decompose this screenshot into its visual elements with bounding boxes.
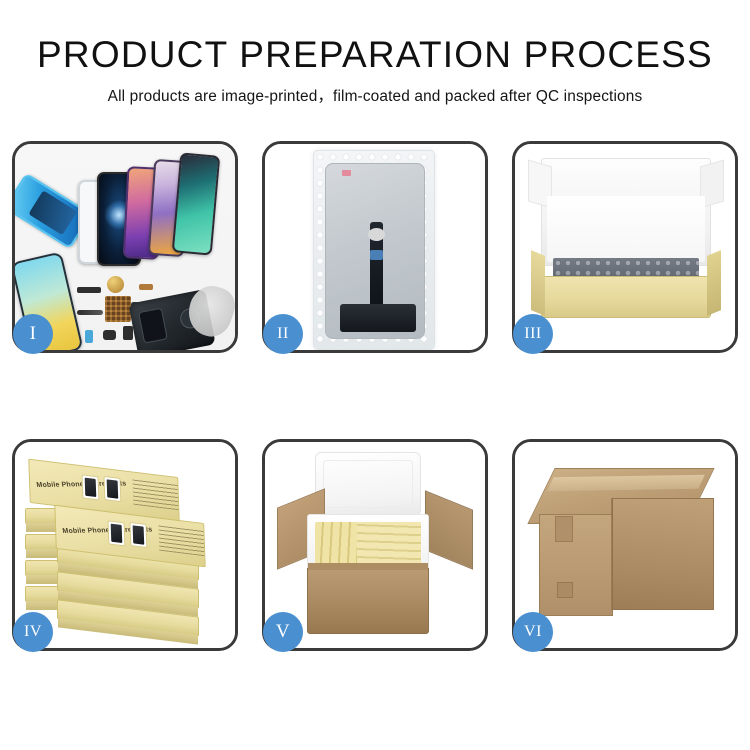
product-preparation-infographic: PRODUCT PREPARATION PROCESS All products… bbox=[0, 0, 750, 750]
step-panel-1: I bbox=[12, 141, 238, 353]
lcd-screen-icon bbox=[325, 163, 425, 339]
carton-tab-upper-icon bbox=[555, 516, 573, 542]
step-badge-5: V bbox=[263, 612, 303, 652]
box-spec-lines-icon bbox=[158, 525, 205, 557]
page-subtitle: All products are image-printed，film-coat… bbox=[0, 84, 750, 106]
step-badge-1: I bbox=[13, 314, 53, 354]
screen-flex-cable-icon bbox=[370, 222, 383, 316]
pink-sticker-icon bbox=[342, 170, 351, 176]
sim-tray-icon bbox=[123, 326, 133, 340]
yellow-box-base-icon bbox=[541, 276, 711, 318]
step-image-2 bbox=[265, 144, 485, 350]
step-badge-3: III bbox=[513, 314, 553, 354]
step-image-6 bbox=[515, 442, 735, 648]
step-panel-2: II bbox=[262, 141, 488, 353]
camera-part-icon bbox=[103, 330, 116, 340]
box-window-icon bbox=[108, 520, 126, 546]
steps-grid: I II bbox=[12, 141, 738, 651]
step-panel-5: V bbox=[262, 439, 488, 651]
carton-edge-seam-icon bbox=[611, 498, 613, 610]
yellow-boxes-row-2-icon bbox=[357, 522, 421, 564]
step-image-4: Mobile Phone Spare Parts Mobile Phone Sp… bbox=[15, 442, 235, 648]
carton-front-icon bbox=[307, 568, 429, 634]
page-title: PRODUCT PREPARATION PROCESS bbox=[0, 34, 750, 75]
carton-flap-right-icon bbox=[425, 490, 473, 569]
box-window-2-icon bbox=[130, 522, 148, 548]
carton-right-face-icon bbox=[612, 498, 714, 610]
speaker-part-icon bbox=[107, 276, 124, 293]
box-window-2-icon bbox=[104, 476, 122, 502]
step-badge-4: IV bbox=[13, 612, 53, 652]
step-image-1 bbox=[15, 144, 235, 350]
step-badge-2: II bbox=[263, 314, 303, 354]
screen-bottom-strip-icon bbox=[340, 304, 416, 332]
box-stack-illustration: Mobile Phone Spare Parts Mobile Phone Sp… bbox=[23, 456, 233, 646]
packing-tape-icon bbox=[547, 475, 705, 492]
white-foam-sheet-icon bbox=[547, 196, 705, 262]
box-window-icon bbox=[82, 474, 100, 500]
step-panel-3: III bbox=[512, 141, 738, 353]
phone-teal-icon bbox=[172, 152, 221, 255]
box-spec-lines-icon bbox=[132, 479, 179, 511]
step-panel-6: VI bbox=[512, 439, 738, 651]
copper-connector-icon bbox=[139, 284, 153, 290]
header: PRODUCT PREPARATION PROCESS All products… bbox=[0, 0, 750, 106]
step-image-5 bbox=[265, 442, 485, 648]
flex-cable-icon bbox=[77, 310, 103, 315]
bubble-wrap-bag-icon bbox=[313, 150, 435, 350]
chip-grid-icon bbox=[105, 296, 131, 322]
battery-part-icon bbox=[85, 330, 93, 343]
bar-part-icon bbox=[77, 287, 101, 293]
step-panel-4: Mobile Phone Spare Parts Mobile Phone Sp… bbox=[12, 439, 238, 651]
carton-left-face-icon bbox=[539, 514, 613, 616]
foam-lid-icon bbox=[315, 452, 421, 516]
step-image-3 bbox=[515, 144, 735, 350]
carton-tab-lower-icon bbox=[557, 582, 573, 598]
step-badge-6: VI bbox=[513, 612, 553, 652]
